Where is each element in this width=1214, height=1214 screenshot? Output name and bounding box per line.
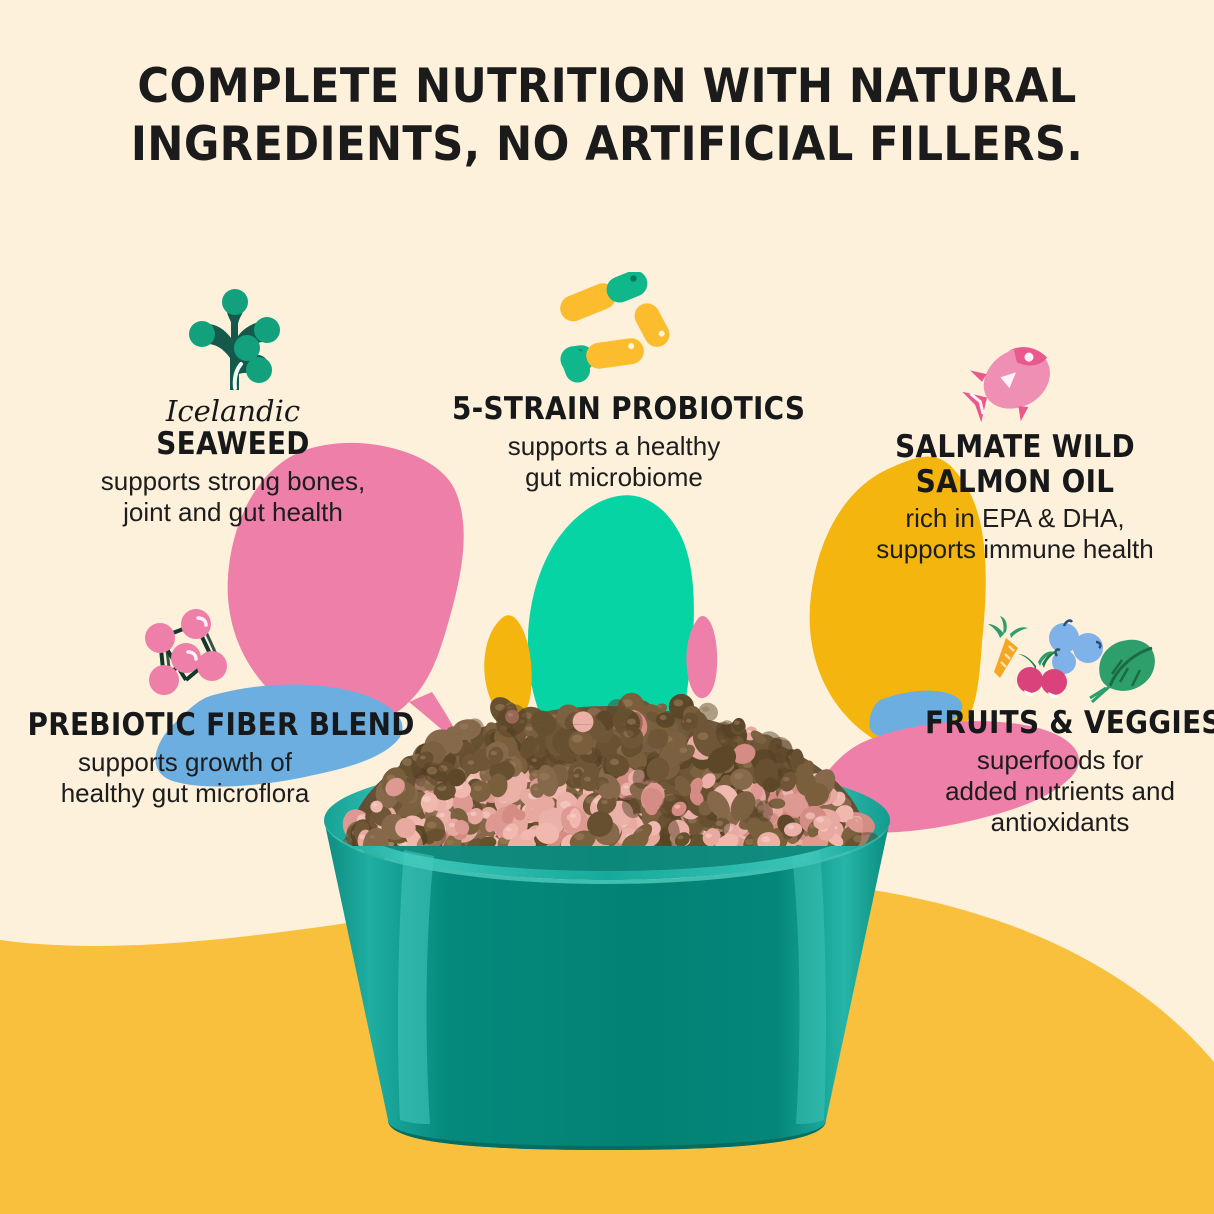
fruits-veggies-icon xyxy=(960,616,1160,706)
seaweed-script-label: Icelandic xyxy=(48,396,418,426)
seaweed-description: supports strong bones, joint and gut hea… xyxy=(48,466,418,528)
fiber-title: PREBIOTIC FIBER BLEND xyxy=(28,708,343,743)
feature-prebiotic-fiber: PREBIOTIC FIBER BLEND supports growth of… xyxy=(10,608,360,809)
bowl-and-food xyxy=(0,0,1214,1214)
molecule-node-5 xyxy=(149,665,179,695)
probiotics-description: supports a healthy gut microbiome xyxy=(434,431,794,493)
feature-fruits-veggies: FRUITS & VEGGIES superfoods for added nu… xyxy=(910,616,1210,838)
seaweed-title: SEAWEED xyxy=(67,427,400,462)
blueberry-icon xyxy=(1049,621,1103,674)
infographic-canvas: COMPLETE NUTRITION WITH NATURAL INGREDIE… xyxy=(0,0,1214,1214)
capsules-icon xyxy=(534,272,694,392)
molecule-node-4 xyxy=(197,651,227,681)
salmon-title-line-2: SALMON OIL xyxy=(858,465,1173,500)
salmon-title-line-1: SALMATE WILD xyxy=(858,430,1173,465)
feature-salmon-oil: SALMATE WILD SALMON OIL rich in EPA & DH… xyxy=(840,330,1190,565)
seaweed-tip-lower-right xyxy=(246,357,272,383)
seaweed-tip-right xyxy=(254,317,280,343)
molecule-node-1 xyxy=(145,623,175,653)
carrot-icon xyxy=(988,616,1028,678)
molecule-icon xyxy=(120,608,250,708)
fish-icon xyxy=(960,330,1070,430)
feature-seaweed: Icelandic SEAWEED supports strong bones,… xyxy=(48,286,418,528)
feature-probiotics: 5-STRAIN PROBIOTICS supports a healthy g… xyxy=(434,272,794,493)
salmon-description: rich in EPA & DHA, supports immune healt… xyxy=(840,503,1190,565)
seaweed-tip-mid xyxy=(234,335,260,361)
seaweed-tip-top xyxy=(222,289,248,315)
fruits-description: superfoods for added nutrients and antio… xyxy=(910,745,1210,838)
probiotics-title: 5-STRAIN PROBIOTICS xyxy=(452,392,776,427)
seaweed-tip-left xyxy=(189,321,215,347)
fiber-description: supports growth of healthy gut microflor… xyxy=(10,747,360,809)
headline-line-1: COMPLETE NUTRITION WITH NATURAL xyxy=(49,58,1166,116)
headline-line-2: INGREDIENTS, NO ARTIFICIAL FILLERS. xyxy=(49,116,1166,174)
headline: COMPLETE NUTRITION WITH NATURAL INGREDIE… xyxy=(0,58,1214,174)
fruits-title: FRUITS & VEGGIES xyxy=(925,706,1195,741)
seaweed-icon xyxy=(173,286,293,396)
